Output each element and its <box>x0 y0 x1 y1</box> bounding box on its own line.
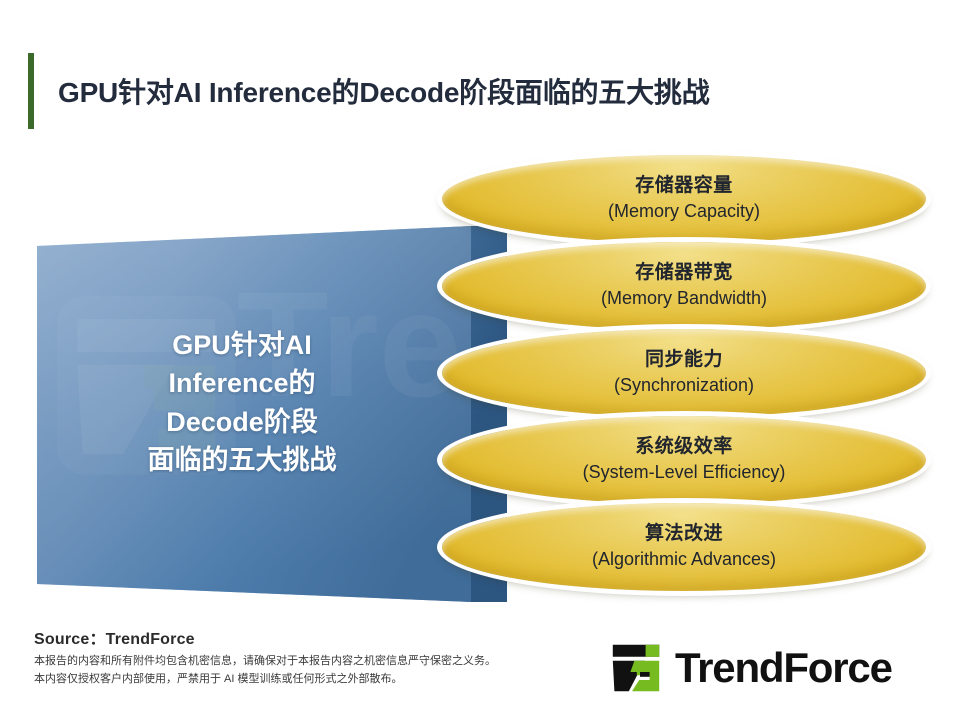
challenge-label-cn: 系统级效率 <box>635 435 733 459</box>
page-title: GPU针对AI Inference的Decode阶段面临的五大挑战 <box>58 71 710 111</box>
source-label: Source：TrendForce <box>34 625 195 649</box>
challenge-label-cn: 存储器带宽 <box>635 261 733 285</box>
challenge-label-cn: 存储器容量 <box>635 174 733 198</box>
trendforce-logo: TrendForce <box>608 640 892 696</box>
blue-arrow-panel: Tre GPU针对AI Inference的 Decode阶段 面临的五大挑战 <box>37 226 507 602</box>
challenge-ellipse-memory-capacity[interactable]: 存储器容量 (Memory Capacity) <box>442 155 926 243</box>
title-accent-bar <box>28 53 34 129</box>
slide-canvas: GPU针对AI Inference的Decode阶段面临的五大挑战 <box>0 0 960 720</box>
trendforce-wordmark: TrendForce <box>675 647 892 689</box>
challenge-label-en: (Algorithmic Advances) <box>592 548 776 571</box>
challenge-ellipse-memory-bandwidth[interactable]: 存储器带宽 (Memory Bandwidth) <box>442 242 926 330</box>
confidentiality-note: 本报告的内容和所有附件均包含机密信息，请确保对于本报告内容之机密信息严守保密之义… <box>34 652 496 688</box>
challenge-ellipse-system-level-efficiency[interactable]: 系统级效率 (System-Level Efficiency) <box>442 416 926 504</box>
challenge-label-cn: 同步能力 <box>645 348 723 372</box>
confidentiality-note-line-2: 本内容仅授权客户内部使用，严禁用于 AI 模型训练或任何形式之外部散布。 <box>34 670 496 688</box>
challenge-ellipse-algorithmic-advances[interactable]: 算法改进 (Algorithmic Advances) <box>442 503 926 591</box>
confidentiality-note-line-1: 本报告的内容和所有附件均包含机密信息，请确保对于本报告内容之机密信息严守保密之义… <box>34 652 496 670</box>
blue-arrow-shape: Tre <box>37 226 507 602</box>
challenge-label-en: (Memory Capacity) <box>608 200 760 223</box>
challenge-label-en: (System-Level Efficiency) <box>583 461 786 484</box>
challenge-label-en: (Memory Bandwidth) <box>601 287 767 310</box>
challenge-label-en: (Synchronization) <box>614 374 754 397</box>
svg-text:Tre: Tre <box>237 260 462 428</box>
trendforce-logo-mark <box>608 640 664 696</box>
challenge-ellipse-synchronization[interactable]: 同步能力 (Synchronization) <box>442 329 926 417</box>
slide-title-block: GPU针对AI Inference的Decode阶段面临的五大挑战 <box>28 53 928 129</box>
challenge-label-cn: 算法改进 <box>645 522 723 546</box>
